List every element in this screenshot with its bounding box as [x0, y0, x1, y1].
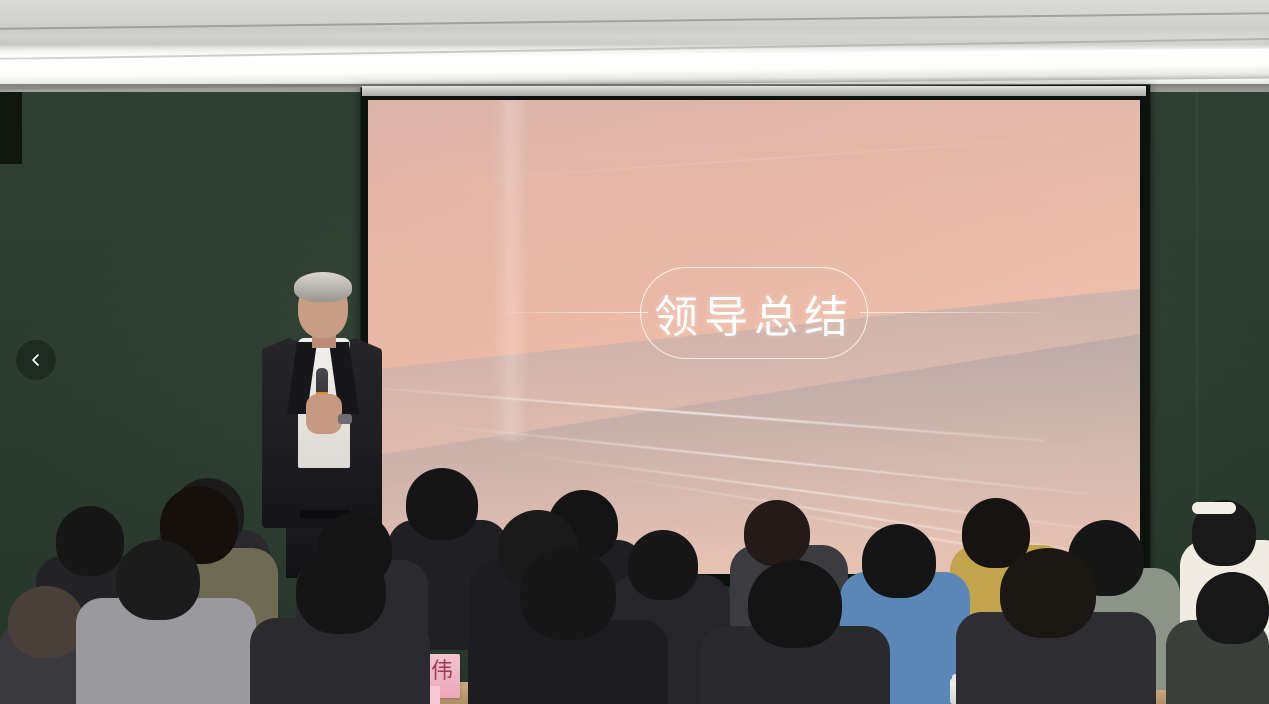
person-head — [116, 540, 200, 620]
person-head — [748, 560, 842, 648]
person-head — [520, 548, 616, 640]
chevron-left-icon — [28, 352, 44, 368]
slide-title-pill: 领导总结 — [640, 267, 868, 359]
headband — [1192, 502, 1236, 514]
projection-screen: 领导总结 — [368, 100, 1140, 574]
person-head — [744, 500, 810, 566]
slide-rule-right — [860, 312, 1060, 313]
person-head — [628, 530, 698, 600]
slide-swoosh-line — [368, 384, 1045, 441]
slide-light-column — [492, 100, 531, 441]
person-head — [1000, 548, 1096, 638]
speaker-hair — [294, 272, 352, 302]
speaker-watch — [338, 414, 352, 424]
projection-screen-top-bar — [362, 86, 1146, 96]
person-head — [56, 506, 124, 576]
person-head — [862, 524, 936, 598]
person-head — [8, 586, 84, 658]
person-head — [296, 548, 386, 634]
person-head — [406, 468, 478, 540]
photo-viewer: 领导总结 — [0, 0, 1269, 704]
ceiling-seam — [0, 12, 1269, 30]
ceiling — [0, 0, 1269, 96]
slide-title: 领导总结 — [654, 281, 854, 345]
slide-rule-left — [488, 312, 648, 313]
speaker-hands — [306, 394, 342, 434]
placard-text: 伟 — [431, 660, 453, 682]
previous-button[interactable] — [16, 340, 56, 380]
person-head — [1196, 572, 1269, 644]
wall-dark-panel — [0, 92, 22, 164]
